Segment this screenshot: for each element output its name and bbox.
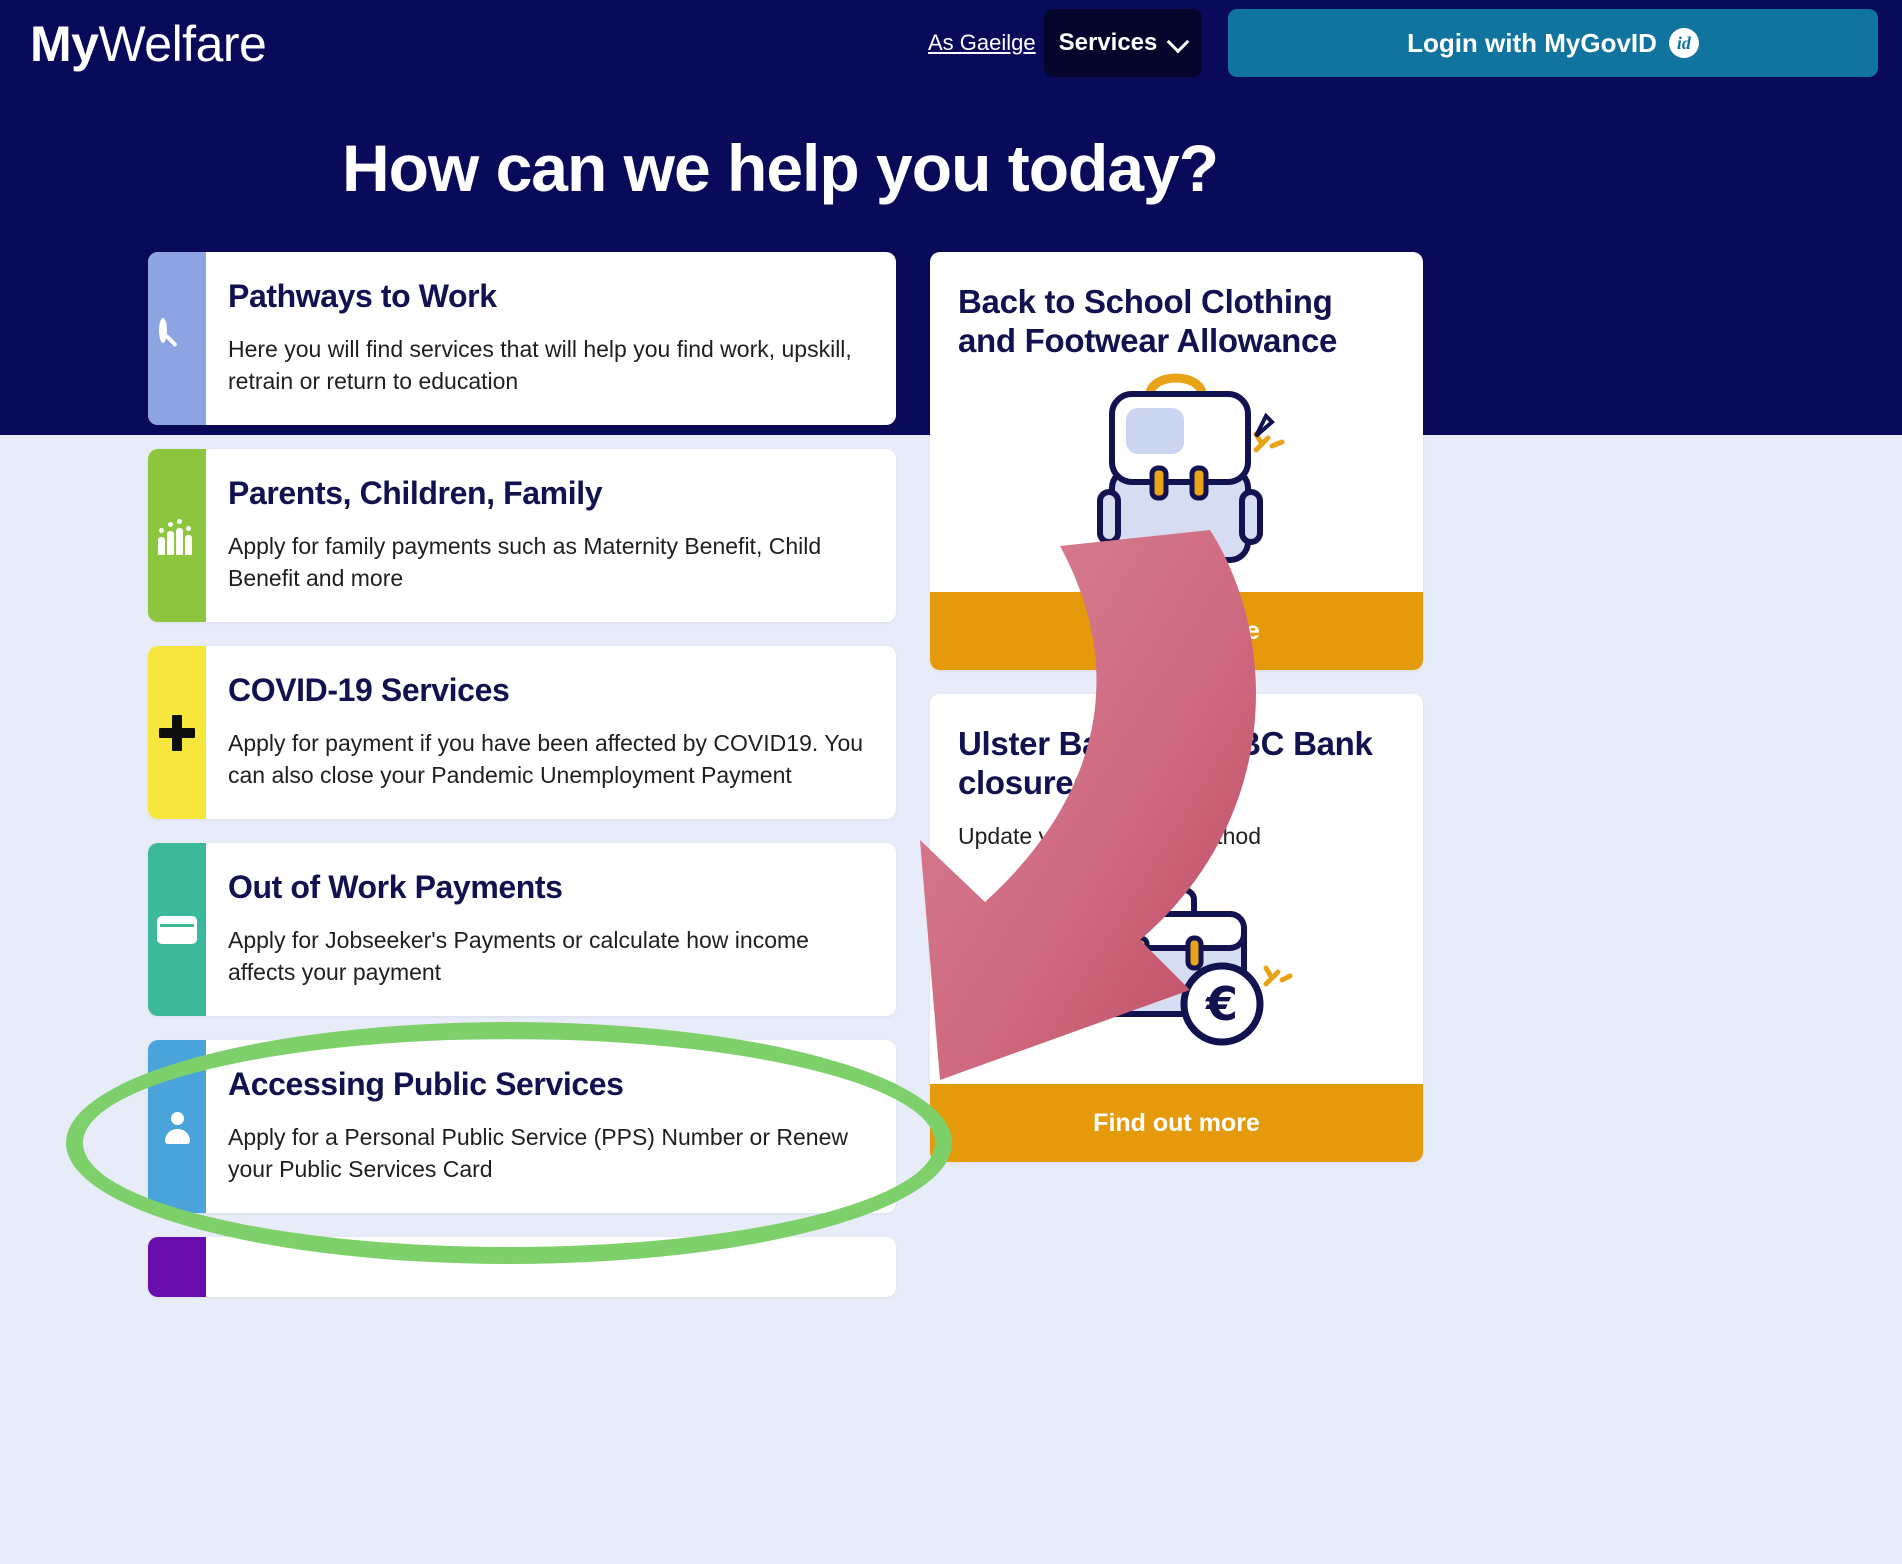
login-with-mygovid-button[interactable]: Login with MyGovID id <box>1228 9 1878 77</box>
accent-strip <box>148 843 206 1016</box>
family-icon <box>158 517 196 555</box>
mygovid-badge-icon: id <box>1669 28 1699 58</box>
service-card-description: Apply for Jobseeker's Payments or calcul… <box>228 924 866 988</box>
accent-strip <box>148 646 206 819</box>
promo-card-back-to-school[interactable]: Back to School Clothing and Footwear All… <box>930 252 1423 670</box>
services-label: Services <box>1059 29 1158 57</box>
page-title: How can we help you today? <box>0 130 1560 206</box>
service-card-out-of-work-payments[interactable]: Out of Work Payments Apply for Jobseeker… <box>148 843 896 1016</box>
service-card-accessing-public-services[interactable]: Accessing Public Services Apply for a Pe… <box>148 1040 896 1213</box>
accent-strip <box>148 1237 206 1297</box>
accent-strip <box>148 449 206 622</box>
briefcase-euro-illustration-icon: € <box>1060 872 1300 1072</box>
find-out-more-button[interactable]: Find out more <box>930 1084 1423 1162</box>
promo-artwork <box>930 360 1423 592</box>
service-card-body <box>206 1237 896 1297</box>
promo-artwork: € <box>930 852 1423 1084</box>
service-card-next-partial[interactable] <box>148 1237 896 1297</box>
promo-title: Ulster Bank and KBC Bank closures <box>930 694 1423 802</box>
service-card-pathways-to-work[interactable]: Pathways to Work Here you will find serv… <box>148 252 896 425</box>
find-out-more-button[interactable]: Find out more <box>930 592 1423 670</box>
plus-icon <box>159 715 195 751</box>
chevron-down-icon <box>1169 34 1187 52</box>
accent-strip <box>148 252 206 425</box>
service-card-parents-children-family[interactable]: Parents, Children, Family Apply for fami… <box>148 449 896 622</box>
payment-card-icon <box>157 916 197 944</box>
mywelfare-home-page: MyWelfare As Gaeilge Services Login with… <box>0 0 1902 1564</box>
service-card-body: Accessing Public Services Apply for a Pe… <box>206 1040 896 1213</box>
service-card-description: Apply for a Personal Public Service (PPS… <box>228 1121 866 1185</box>
person-icon <box>162 1110 192 1144</box>
login-label: Login with MyGovID <box>1407 28 1657 59</box>
service-card-title: Accessing Public Services <box>228 1066 866 1103</box>
promo-card-bank-closures[interactable]: Ulster Bank and KBC Bank closures Update… <box>930 694 1423 1162</box>
logo-welfare: Welfare <box>98 16 266 72</box>
service-card-description: Here you will find services that will he… <box>228 333 866 397</box>
service-card-title: Out of Work Payments <box>228 869 866 906</box>
accent-strip <box>148 1040 206 1213</box>
logo-my: My <box>30 16 98 72</box>
top-navigation-bar: MyWelfare As Gaeilge Services Login with… <box>0 0 1902 88</box>
service-card-body: Pathways to Work Here you will find serv… <box>206 252 896 425</box>
service-card-covid-19-services[interactable]: COVID-19 Services Apply for payment if y… <box>148 646 896 819</box>
service-card-title: Pathways to Work <box>228 278 866 315</box>
promo-cards-column: Back to School Clothing and Footwear All… <box>930 252 1423 1186</box>
service-card-description: Apply for family payments such as Matern… <box>228 530 866 594</box>
services-menu-button[interactable]: Services <box>1044 9 1202 77</box>
svg-text:€: € <box>1205 977 1238 1031</box>
as-gaeilge-link[interactable]: As Gaeilge <box>928 30 1036 56</box>
service-card-body: COVID-19 Services Apply for payment if y… <box>206 646 896 819</box>
mywelfare-logo[interactable]: MyWelfare <box>30 14 266 74</box>
service-card-title: Parents, Children, Family <box>228 475 866 512</box>
service-card-title: COVID-19 Services <box>228 672 866 709</box>
search-icon <box>158 320 196 358</box>
service-card-description: Apply for payment if you have been affec… <box>228 727 866 791</box>
backpack-illustration-icon <box>1060 372 1290 587</box>
service-cards-column: Pathways to Work Here you will find serv… <box>148 252 896 1321</box>
service-card-body: Parents, Children, Family Apply for fami… <box>206 449 896 622</box>
promo-title: Back to School Clothing and Footwear All… <box>930 252 1423 360</box>
promo-subtitle: Update your payment method <box>930 802 1423 852</box>
service-card-body: Out of Work Payments Apply for Jobseeker… <box>206 843 896 1016</box>
